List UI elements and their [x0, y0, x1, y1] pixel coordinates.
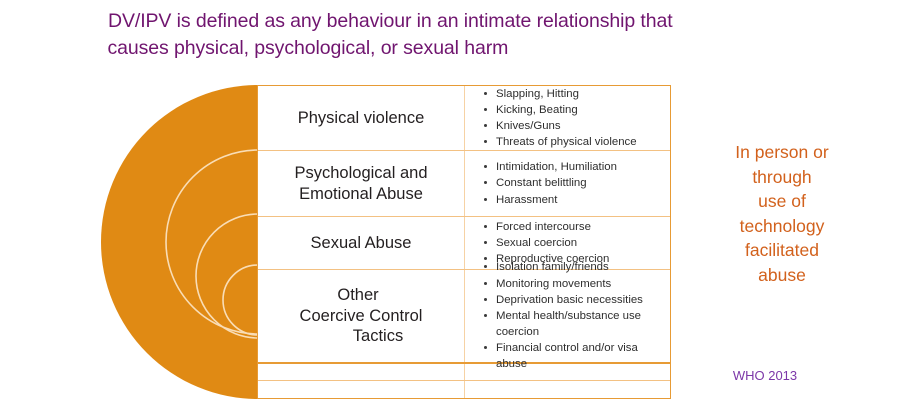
slide-canvas: DV/IPV is defined as any behaviour in an… [0, 0, 900, 400]
category-line: Physical violence [298, 108, 425, 128]
side-note-line: facilitated [672, 238, 892, 263]
list-item: Deprivation basic necessities [483, 292, 664, 308]
bullets-cell-empty [465, 364, 670, 380]
table-row: Other Coercive Control Tactics Isolation… [258, 270, 670, 364]
title-line-1: DV/IPV is defined as any behaviour in an… [108, 8, 808, 35]
category-cell: Physical violence [258, 86, 465, 150]
nested-semicircles-graphic [96, 80, 266, 402]
category-cell: Other Coercive Control Tactics [258, 270, 465, 362]
bullets-cell: Intimidation, Humiliation Constant belit… [465, 151, 670, 216]
side-note-line: In person or [672, 140, 892, 165]
table-row-empty [258, 381, 670, 398]
source-citation: WHO 2013 [690, 368, 840, 383]
category-line: Other [337, 285, 378, 305]
semicircle-outer [101, 85, 258, 399]
category-line: Emotional Abuse [299, 184, 423, 204]
list-item: Constant belittling [483, 175, 664, 191]
category-line: Sexual Abuse [311, 233, 412, 253]
side-note-line: abuse [672, 263, 892, 288]
page-title: DV/IPV is defined as any behaviour in an… [108, 8, 808, 62]
list-item: Intimidation, Humiliation [483, 159, 664, 175]
list-item: Sexual coercion [483, 235, 664, 251]
category-cell: Psychological and Emotional Abuse [258, 151, 465, 216]
category-cell-empty [258, 364, 465, 380]
side-note-line: through [672, 165, 892, 190]
list-item: Isolation family/friends [483, 259, 664, 275]
list-item: Monitoring movements [483, 276, 664, 292]
list-item: Mental health/substance use coercion [483, 308, 664, 340]
table-row: Psychological and Emotional Abuse Intimi… [258, 151, 670, 217]
list-item: Threats of physical violence [483, 134, 664, 150]
bullets-cell-empty [465, 381, 670, 398]
side-note-line: technology [672, 214, 892, 239]
category-line: Tactics [353, 326, 403, 346]
list-item: Kicking, Beating [483, 102, 664, 118]
categories-table: Physical violence Slapping, Hitting Kick… [257, 85, 671, 399]
bullets-cell: Slapping, Hitting Kicking, Beating Knive… [465, 86, 670, 150]
category-cell-empty [258, 381, 465, 398]
category-line: Psychological and [295, 163, 428, 183]
side-note-line: use of [672, 189, 892, 214]
side-note: In person or through use of technology f… [672, 140, 892, 287]
title-line-2: causes physical, psychological, or sexua… [108, 35, 809, 62]
list-item: Knives/Guns [483, 118, 664, 134]
list-item: Harassment [483, 192, 664, 208]
list-item: Forced intercourse [483, 219, 664, 235]
list-item: Slapping, Hitting [483, 86, 664, 102]
category-cell: Sexual Abuse [258, 217, 465, 269]
category-line: Coercive Control [300, 306, 423, 326]
table-row: Physical violence Slapping, Hitting Kick… [258, 86, 670, 151]
table-row-empty [258, 364, 670, 381]
bullets-cell: Isolation family/friends Monitoring move… [465, 270, 670, 362]
